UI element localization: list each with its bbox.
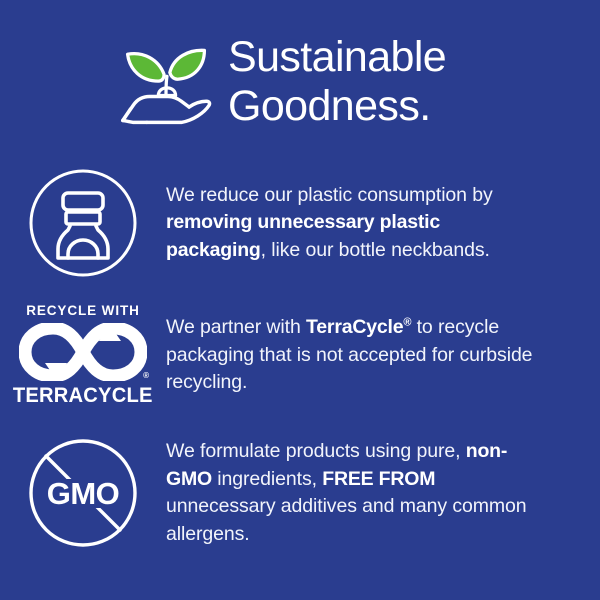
text-part: We formulate products using pure, (166, 440, 466, 462)
benefit-text-2: We partner with TerraCycle® to recycle p… (166, 314, 538, 397)
title-line-2: Goodness. (228, 82, 446, 131)
benefit-text-3: We formulate products using pure, non-GM… (166, 438, 538, 548)
plant-in-hand-icon (118, 36, 214, 132)
text-part: ingredients, (212, 468, 322, 490)
list-item: GMO We formulate products using pure, no… (0, 423, 600, 563)
no-gmo-label: GMO (47, 476, 120, 511)
infinity-recycle-loop-icon: ® (19, 323, 147, 381)
list-item: RECYCLE WITH ® TERRACYCLE (0, 288, 600, 423)
poster-header: Sustainable Goodness. (0, 26, 600, 138)
terracycle-wordmark: TERRACYCLE (13, 384, 153, 408)
benefit-list: We reduce our plastic consumption by rem… (0, 158, 600, 563)
terracycle-icon-cell: RECYCLE WITH ® TERRACYCLE (0, 303, 166, 408)
text-part: , like our bottle neckbands. (261, 239, 490, 261)
benefit-text-1: We reduce our plastic consumption by rem… (166, 182, 538, 265)
text-part-bold: FREE FROM (322, 468, 435, 490)
terracycle-logo: RECYCLE WITH ® TERRACYCLE (16, 303, 150, 408)
gmo-text-cell: We formulate products using pure, non-GM… (166, 438, 600, 548)
no-gmo-icon-cell: GMO (0, 438, 166, 548)
text-part: unnecessary additives and many common al… (166, 495, 527, 545)
text-part-bold: TerraCycle (306, 316, 403, 338)
terracycle-top-text: RECYCLE WITH (26, 303, 140, 319)
bottle-neckband-circle-icon (28, 168, 138, 278)
bottle-neckband-icon-cell (0, 168, 166, 278)
text-part: We reduce our plastic consumption by (166, 184, 493, 206)
title-line-1: Sustainable (228, 33, 446, 82)
registered-mark-logo: ® (143, 372, 149, 380)
sustainable-goodness-poster: Sustainable Goodness. (0, 0, 600, 600)
text-part: We partner with (166, 316, 306, 338)
terracycle-text-cell: We partner with TerraCycle® to recycle p… (166, 314, 600, 397)
page-title: Sustainable Goodness. (228, 33, 446, 131)
bottle-text-cell: We reduce our plastic consumption by rem… (166, 182, 600, 265)
list-item: We reduce our plastic consumption by rem… (0, 158, 600, 288)
no-gmo-circle-icon: GMO (28, 438, 138, 548)
